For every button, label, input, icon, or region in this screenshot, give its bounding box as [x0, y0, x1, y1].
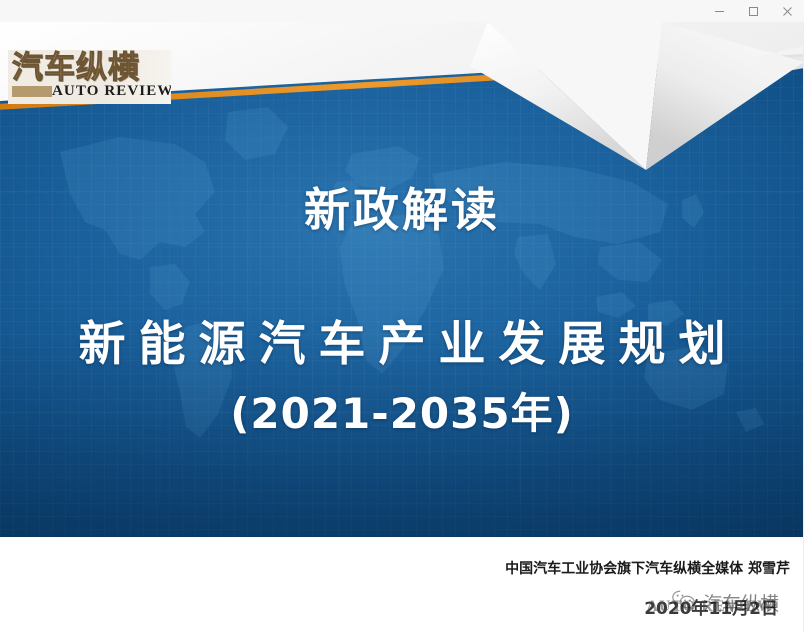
logo-chinese-text: 汽车纵横	[12, 50, 140, 87]
watermark-ghost-text: AUTO REVIEW	[646, 598, 774, 616]
window-close-button[interactable]	[770, 0, 804, 22]
slide-byline: 中国汽车工业协会旗下汽车纵横全媒体 郑雪芹	[0, 558, 790, 578]
window-titlebar	[0, 0, 804, 22]
logo-accent-bar	[12, 86, 52, 97]
slide-title-years: (2021-2035年)	[0, 380, 804, 441]
window-maximize-button[interactable]	[736, 0, 770, 22]
maximize-icon	[748, 6, 759, 17]
presentation-slide[interactable]: 汽车纵横 AUTO REVIEW 新政解读 新能源汽车产业发展规划 (2021-…	[0, 22, 804, 537]
brand-logo: 汽车纵横 AUTO REVIEW	[8, 50, 171, 104]
slide-stage: 汽车纵横 AUTO REVIEW 新政解读 新能源汽车产业发展规划 (2021-…	[0, 22, 804, 632]
slide-title-main: 新政解读	[0, 174, 804, 240]
logo-english-text: AUTO REVIEW	[52, 83, 171, 100]
close-icon	[782, 6, 793, 17]
window-minimize-button[interactable]	[702, 0, 736, 22]
minimize-icon	[714, 6, 725, 17]
slide-title-subtitle: 新能源汽车产业发展规划	[0, 305, 804, 374]
